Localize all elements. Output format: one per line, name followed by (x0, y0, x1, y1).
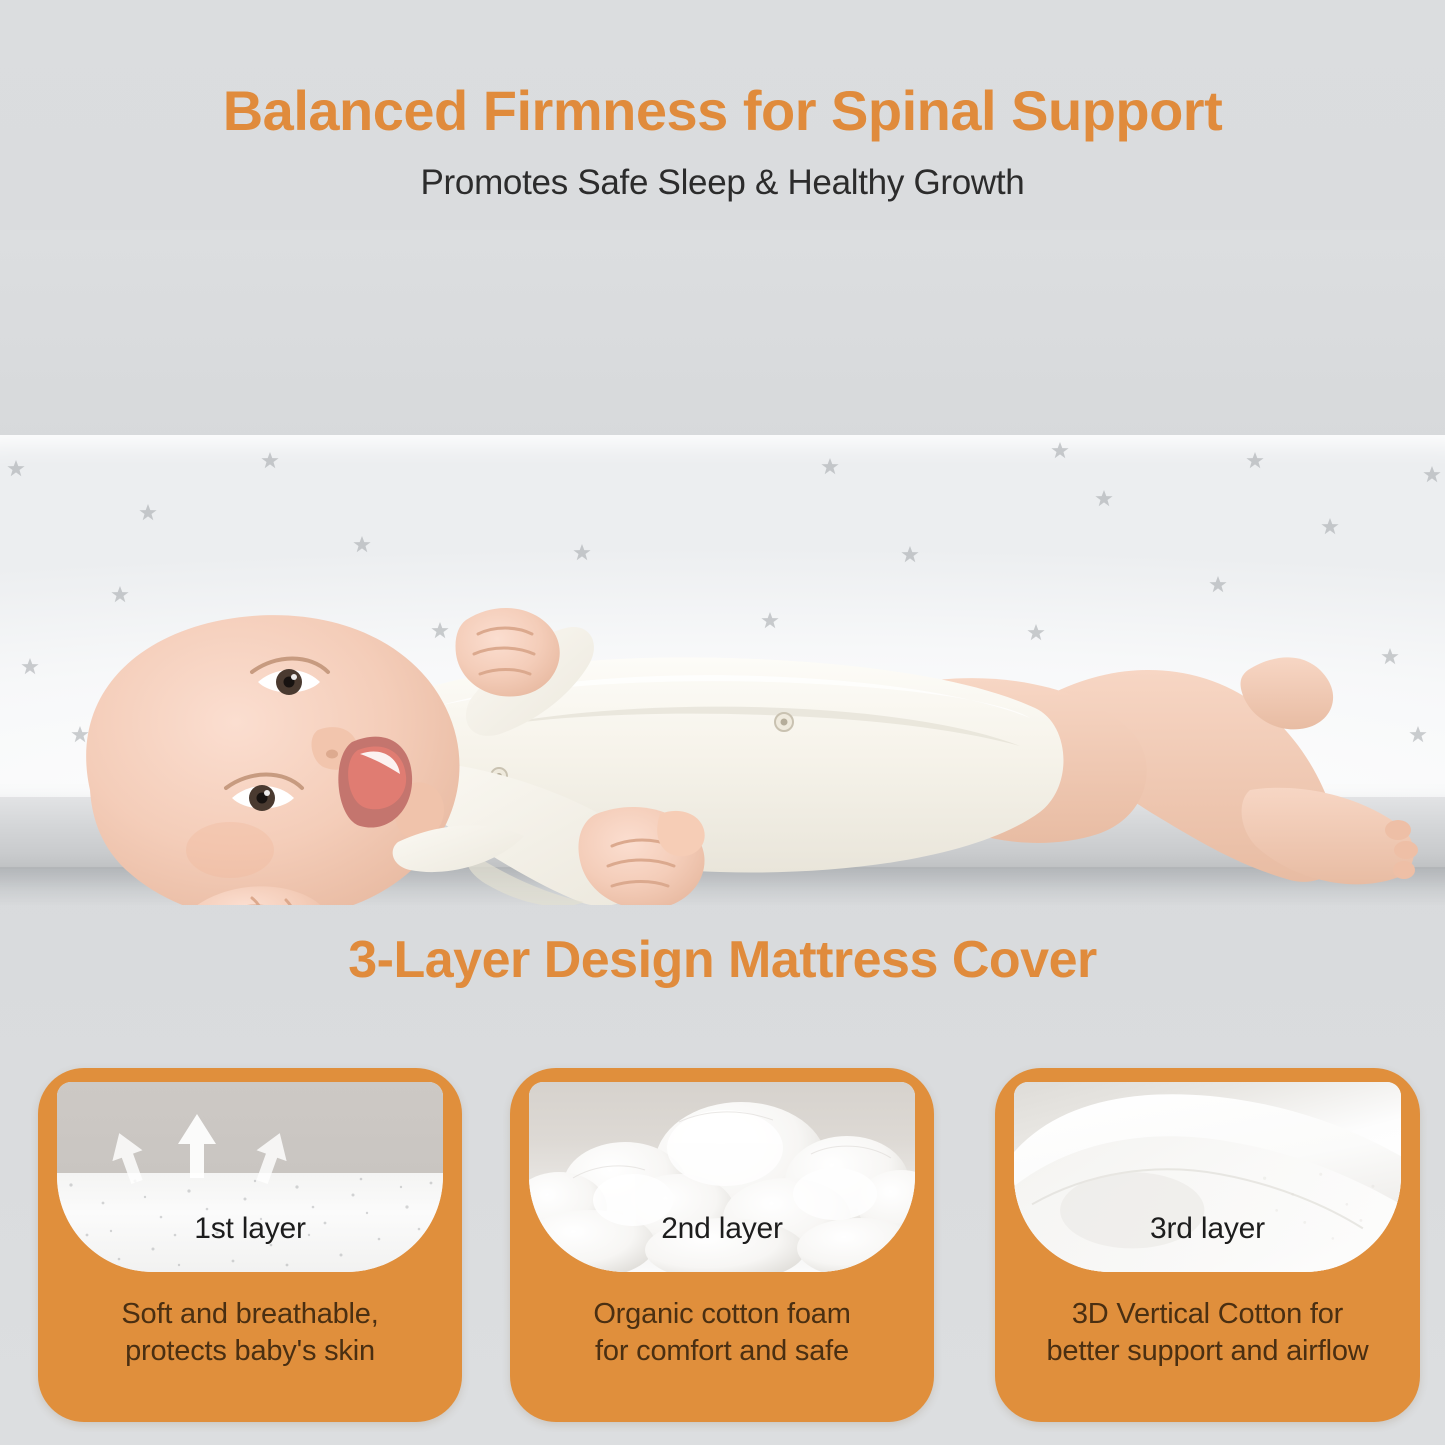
layer-caption-1-line1: Soft and breathable, (52, 1296, 448, 1333)
layer-label-1: 1st layer (57, 1212, 443, 1246)
layer-card-3-image: 3rd layer (1014, 1082, 1401, 1272)
layer-caption-3: 3D Vertical Cotton for better support an… (1009, 1296, 1406, 1369)
layer-caption-2-line1: Organic cotton foam (524, 1296, 920, 1333)
layer-caption-1: Soft and breathable, protects baby's ski… (52, 1296, 448, 1369)
infographic-page: Balanced Firmness for Spinal Support Pro… (0, 0, 1445, 1445)
layer-card-1-image: 1st layer (57, 1082, 443, 1272)
hero-image (0, 230, 1445, 905)
layer-caption-3-line2: better support and airflow (1009, 1333, 1406, 1370)
layer-caption-2-line2: for comfort and safe (524, 1333, 920, 1370)
layer-card-3[interactable]: 3rd layer 3D Vertical Cotton for better … (995, 1068, 1420, 1422)
layer-caption-3-line1: 3D Vertical Cotton for (1009, 1296, 1406, 1333)
page-title: Balanced Firmness for Spinal Support (0, 0, 1445, 141)
layer-card-1[interactable]: 1st layer Soft and breathable, protects … (38, 1068, 462, 1422)
layer-card-2-image: 2nd layer (529, 1082, 915, 1272)
header: Balanced Firmness for Spinal Support Pro… (0, 0, 1445, 203)
layer-caption-1-line2: protects baby's skin (52, 1333, 448, 1370)
layer-label-3: 3rd layer (1014, 1212, 1401, 1246)
layer-cards: 1st layer Soft and breathable, protects … (0, 1068, 1445, 1428)
layer-caption-2: Organic cotton foam for comfort and safe (524, 1296, 920, 1369)
page-subtitle: Promotes Safe Sleep & Healthy Growth (0, 141, 1445, 203)
section-title-3-layer: 3-Layer Design Mattress Cover (0, 930, 1445, 990)
layer-card-2[interactable]: 2nd layer Organic cotton foam for comfor… (510, 1068, 934, 1422)
layer-label-2: 2nd layer (529, 1212, 915, 1246)
baby-photo (0, 230, 1445, 905)
